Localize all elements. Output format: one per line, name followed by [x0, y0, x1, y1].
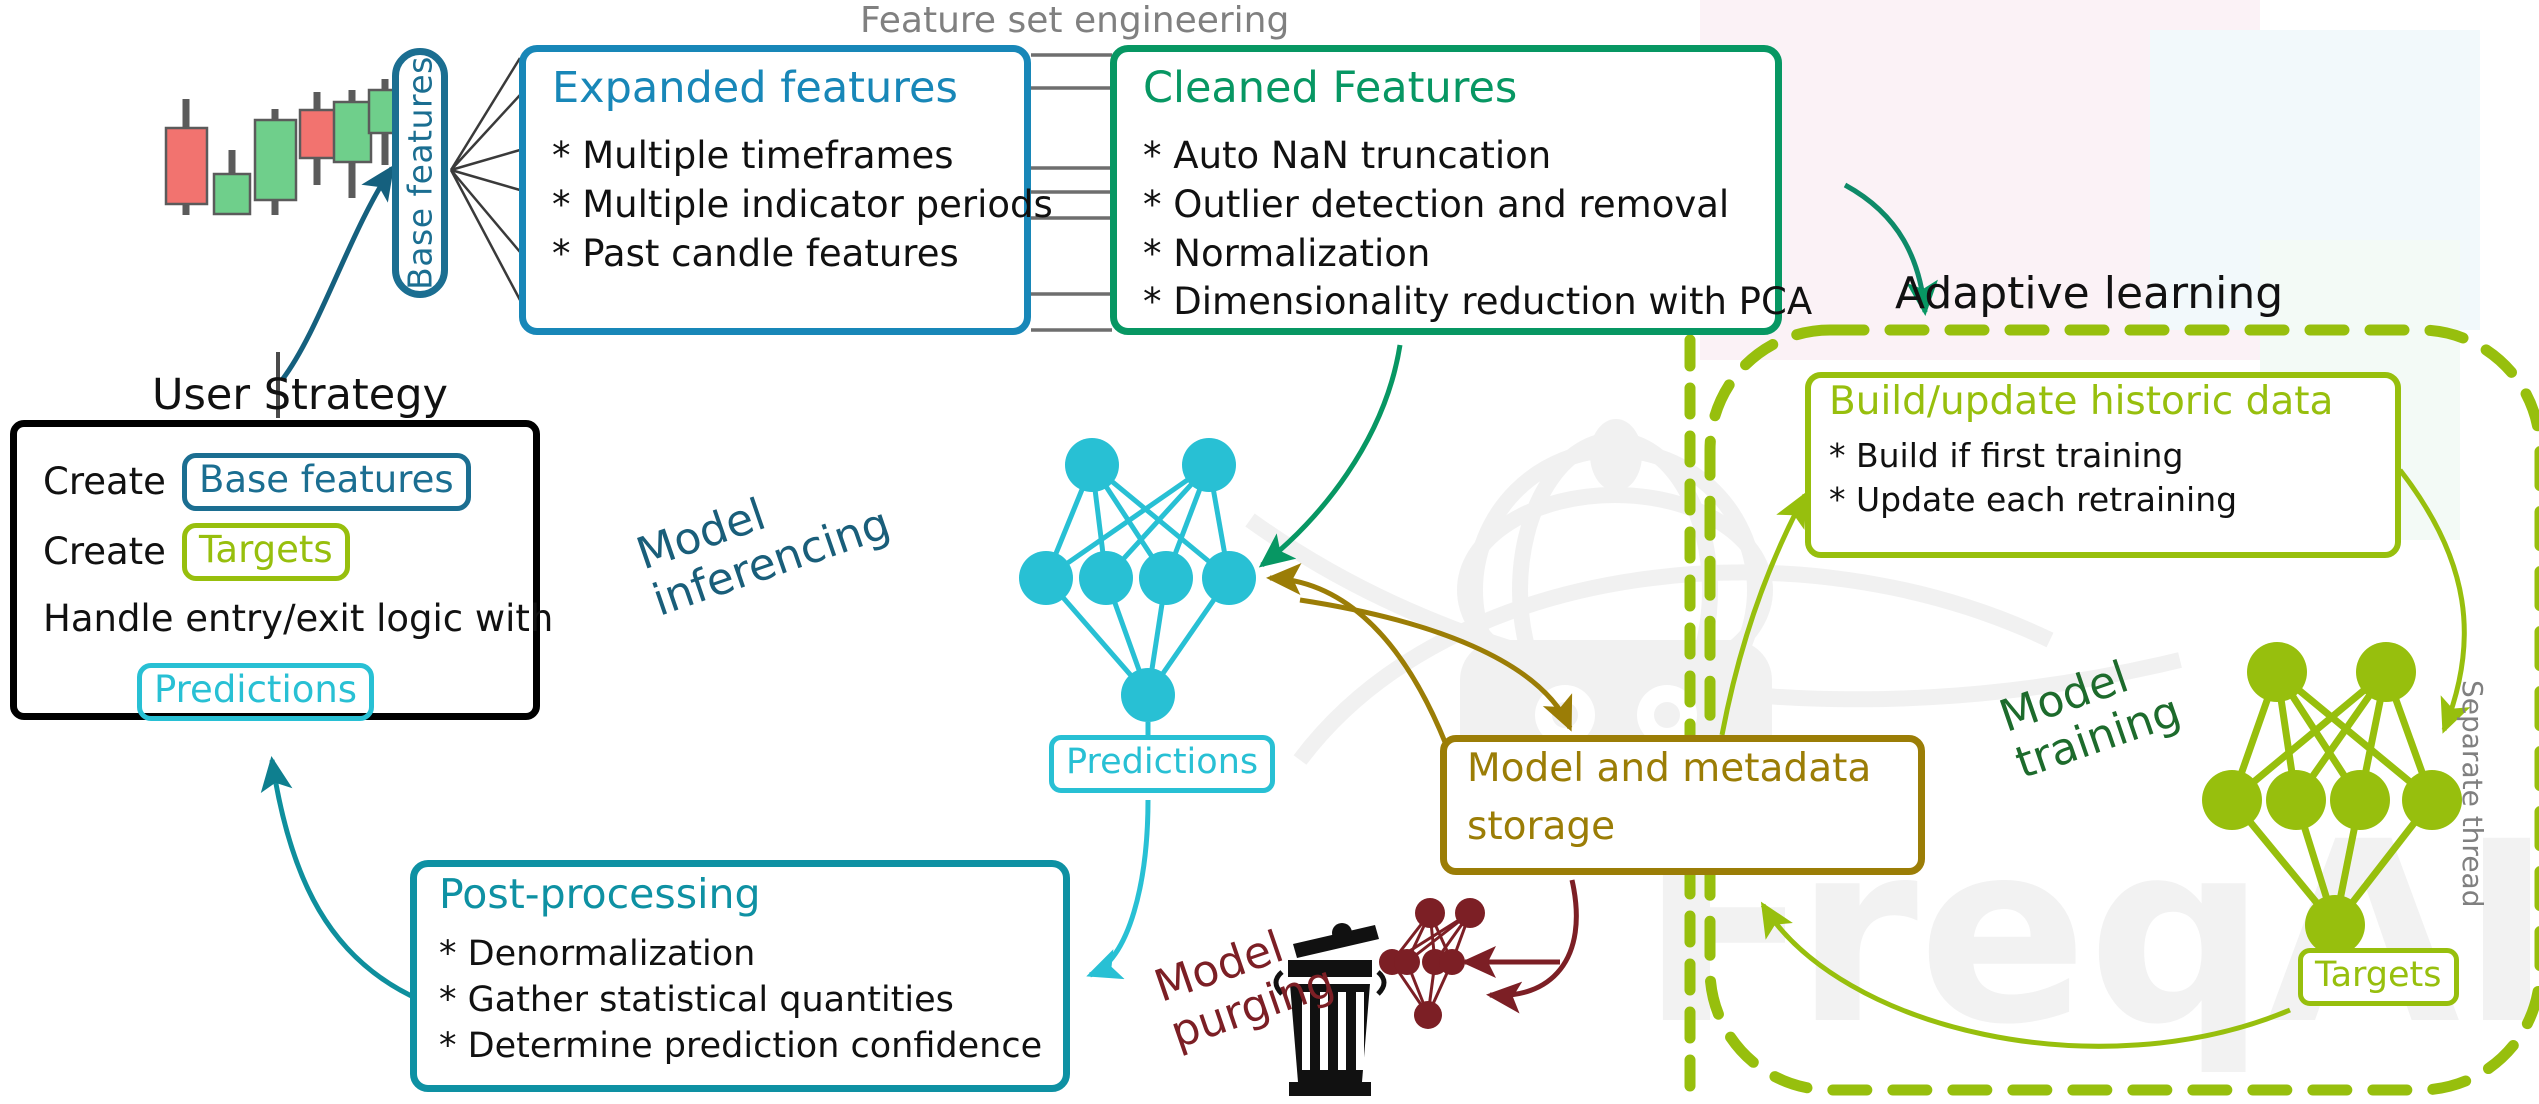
- post-to-strategy-arrow: [272, 760, 420, 1000]
- expanded-features-title: Expanded features: [552, 66, 958, 111]
- post-processing-title: Post-processing: [439, 873, 761, 916]
- cleaned-features-card[interactable]: Cleaned Features * Auto NaN truncation *…: [1110, 45, 1782, 335]
- list-item: * Update each retraining: [1829, 478, 2237, 522]
- list-item: * Build if first training: [1829, 434, 2237, 478]
- cleaned-features-items: * Auto NaN truncation * Outlier detectio…: [1143, 132, 1812, 327]
- entry-exit-logic-label: Handle entry/exit logic with: [43, 597, 553, 640]
- strategy-row-base-features: Create Base features: [43, 453, 471, 511]
- list-item: * Multiple indicator periods: [552, 181, 1053, 230]
- list-item: * Determine prediction confidence: [439, 1023, 1042, 1069]
- list-item: * Multiple timeframes: [552, 132, 1053, 181]
- targets-pill[interactable]: Targets: [182, 523, 350, 581]
- storage-to-purge-arrow: [1490, 880, 1576, 995]
- build-update-historic-data-card[interactable]: Build/update historic data * Build if fi…: [1805, 372, 2401, 558]
- base-to-expanded-fan: [451, 58, 520, 300]
- build-update-title: Build/update historic data: [1829, 382, 2333, 423]
- list-item: * Normalization: [1143, 230, 1812, 279]
- storage-to-inference-arrow: [1270, 578, 1452, 760]
- predictions-pill[interactable]: Predictions: [137, 663, 374, 721]
- create-label-1: Create: [43, 460, 166, 503]
- cleaned-to-inference-arrow: [1262, 345, 1400, 565]
- adaptive-learning-label: Adaptive learning: [1895, 268, 2283, 319]
- post-processing-card[interactable]: Post-processing * Denormalization * Gath…: [410, 860, 1070, 1092]
- candlestick-chart: [166, 79, 402, 215]
- storage-line-2: storage: [1467, 804, 1615, 849]
- inference-neural-network: [1019, 438, 1256, 742]
- targets-output-pill[interactable]: Targets: [2298, 948, 2459, 1006]
- list-item: * Outlier detection and removal: [1143, 181, 1812, 230]
- create-label-2: Create: [43, 530, 166, 573]
- list-item: * Denormalization: [439, 931, 1042, 977]
- cleaned-features-title: Cleaned Features: [1143, 66, 1517, 111]
- build-update-items: * Build if first training * Update each …: [1829, 434, 2237, 521]
- separate-thread-label: Separate thread: [2456, 680, 2489, 908]
- predictions-to-post-arrow: [1090, 800, 1148, 975]
- list-item: * Auto NaN truncation: [1143, 132, 1812, 181]
- post-processing-items: * Denormalization * Gather statistical q…: [439, 931, 1042, 1070]
- candles-to-base-arrow: [282, 168, 392, 380]
- storage-line-1: Model and metadata: [1467, 746, 1871, 791]
- feature-set-engineering-label: Feature set engineering: [860, 0, 1289, 41]
- expanded-features-items: * Multiple timeframes * Multiple indicat…: [552, 132, 1053, 278]
- strategy-row-targets: Create Targets: [43, 523, 350, 581]
- diagram-canvas: FreqAI: [0, 0, 2539, 1104]
- base-features-node[interactable]: Base features: [392, 48, 448, 298]
- expanded-features-card[interactable]: Expanded features * Multiple timeframes …: [519, 45, 1031, 335]
- strategy-row-logic: Handle entry/exit logic with: [43, 597, 553, 640]
- list-item: * Gather statistical quantities: [439, 977, 1042, 1023]
- user-strategy-card[interactable]: Create Base features Create Targets Hand…: [10, 420, 540, 720]
- predictions-output-pill[interactable]: Predictions: [1049, 735, 1275, 793]
- list-item: * Dimensionality reduction with PCA: [1143, 278, 1812, 327]
- list-item: * Past candle features: [552, 230, 1053, 279]
- user-strategy-title: User Strategy: [130, 370, 470, 420]
- base-features-pill[interactable]: Base features: [182, 453, 471, 511]
- base-features-label: Base features: [401, 56, 440, 290]
- model-metadata-storage-card[interactable]: Model and metadata storage: [1440, 735, 1925, 875]
- strategy-row-predictions: Predictions: [137, 663, 374, 721]
